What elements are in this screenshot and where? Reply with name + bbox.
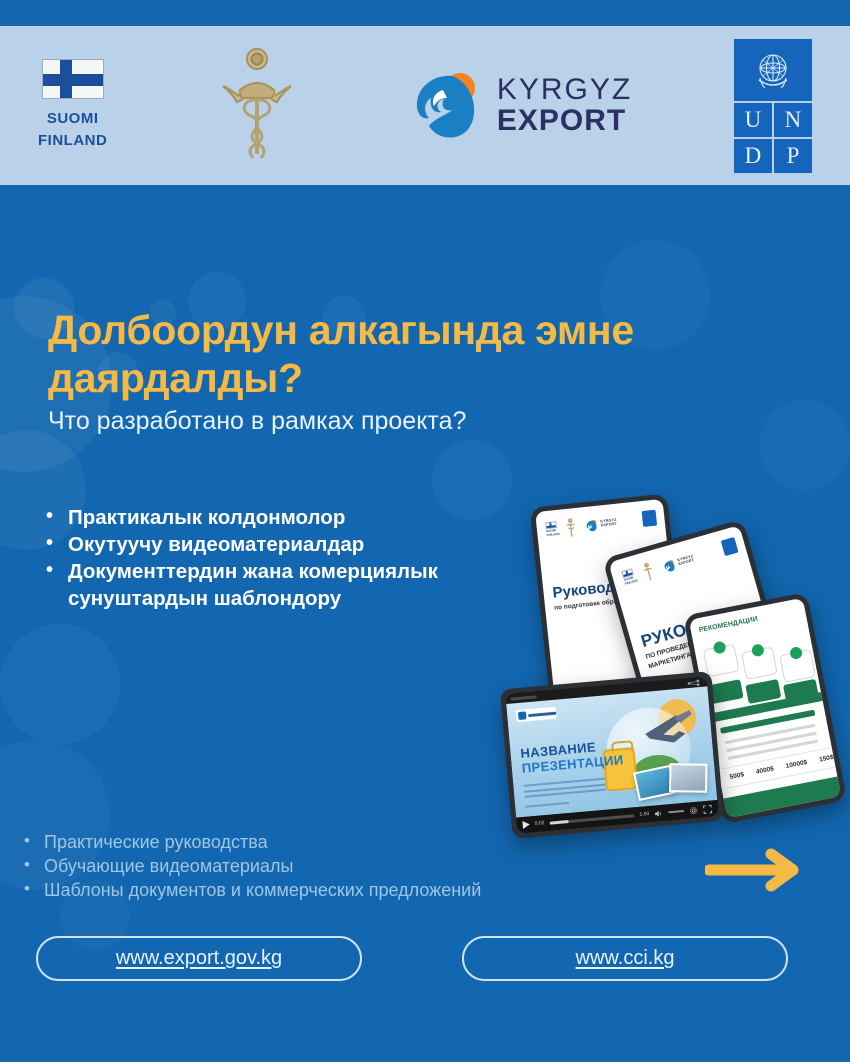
link-cci-kg-label: www.cci.kg xyxy=(576,947,675,970)
kyrgyz-export-logo: KYRGYZ EXPORT xyxy=(407,68,632,144)
video-frame: НАЗВАНИЕ ПРЕЗЕНТАЦИИ xyxy=(506,686,717,817)
link-cci-kg[interactable]: www.cci.kg xyxy=(462,936,788,981)
russian-deliverables-list: Практические руководства Обучающие видео… xyxy=(18,831,658,903)
finland-mini-icon: SUOMIFINLAND xyxy=(621,568,636,586)
caduceus-mini-icon xyxy=(563,517,579,538)
undp-logo: U N D P xyxy=(734,39,812,173)
stat-value: 4000$ xyxy=(755,766,774,776)
kyrgyz-export-mini-icon: KYRGYZEXPORT xyxy=(584,516,617,532)
undp-letter-d: D xyxy=(734,139,772,173)
partner-logo-band: SUOMI FINLAND KYRGYZ EXPORT xyxy=(0,26,850,185)
caduceus-mini-icon xyxy=(639,560,658,583)
link-export-gov-kg[interactable]: www.export.gov.kg xyxy=(36,936,362,981)
video-progress-bar[interactable] xyxy=(549,814,634,824)
share-icon xyxy=(686,678,703,686)
finland-mini-icon: SUOMIFINLAND xyxy=(545,521,558,538)
list-item: Документтердин жана комерциялык сунуштар… xyxy=(42,559,532,611)
undp-letter-u: U xyxy=(734,103,772,137)
list-item: Обучающие видеоматериалы xyxy=(18,855,658,879)
stat-value: 150$ xyxy=(819,754,835,764)
finland-line2: FINLAND xyxy=(38,130,107,152)
video-duration: 1:50 xyxy=(639,811,649,818)
undp-letter-n: N xyxy=(774,103,812,137)
finland-logo: SUOMI FINLAND xyxy=(38,59,107,152)
video-subtitle-lines xyxy=(523,778,606,802)
finland-logo-label: SUOMI FINLAND xyxy=(38,108,107,152)
stat-value: 500$ xyxy=(729,771,745,781)
undp-letters: U N D P xyxy=(734,103,812,173)
right-arrow-icon[interactable] xyxy=(705,848,801,892)
page-subtitle: Что разработано в рамках проекта? xyxy=(48,406,688,437)
volume-icon[interactable] xyxy=(654,808,664,818)
bokeh-circle xyxy=(0,624,120,744)
finland-flag-icon xyxy=(42,59,104,99)
bokeh-circle xyxy=(760,400,850,490)
un-emblem-icon xyxy=(734,39,812,103)
photo-thumb xyxy=(669,763,708,793)
list-item: Шаблоны документов и коммерческих предло… xyxy=(18,879,658,903)
fullscreen-icon[interactable] xyxy=(703,804,713,814)
qr-code-icon xyxy=(642,510,658,527)
kyrgyz-deliverables-list: Практикалык колдонмолор Окутуучу видеома… xyxy=(42,505,532,613)
kyrgyz-export-line1: KYRGYZ xyxy=(497,75,632,106)
video-current-time: 0:02 xyxy=(534,820,544,827)
undp-letter-p: P xyxy=(774,139,812,173)
list-item: Окутуучу видеоматериалдар xyxy=(42,532,532,558)
volume-slider[interactable] xyxy=(668,810,684,813)
caduceus-icon xyxy=(209,46,305,166)
mockup-card xyxy=(703,644,740,678)
play-icon[interactable] xyxy=(522,820,530,829)
list-item: Практикалык колдонмолор xyxy=(42,505,532,531)
link-export-gov-kg-label: www.export.gov.kg xyxy=(116,947,282,970)
kyrgyz-export-line2: EXPORT xyxy=(497,106,632,137)
list-item: Практические руководства xyxy=(18,831,658,855)
kyrgyz-export-mark-icon xyxy=(407,68,487,144)
video-url-line xyxy=(525,802,569,808)
product-mockups: SUOMIFINLAND KYRGYZEXPORT Руководство по… xyxy=(494,482,850,854)
kyrgyz-export-mini-icon: KYRGYZEXPORT xyxy=(661,553,696,574)
finland-line1: SUOMI xyxy=(38,108,107,130)
mockup-doc3-title: РЕКОМЕНДАЦИИ xyxy=(698,606,802,636)
top-strip xyxy=(0,0,850,26)
page-title: Долбоордун алкагында эмне даярдалды? xyxy=(48,307,708,403)
video-brand-logo xyxy=(516,707,557,722)
mockup-video-tablet: НАЗВАНИЕ ПРЕЗЕНТАЦИИ 0:02 1:50 xyxy=(500,671,724,839)
airplane-icon xyxy=(637,708,696,749)
gear-icon[interactable] xyxy=(689,805,699,815)
kyrgyz-export-wordmark: KYRGYZ EXPORT xyxy=(497,75,632,136)
stat-value: 10000$ xyxy=(785,759,808,770)
